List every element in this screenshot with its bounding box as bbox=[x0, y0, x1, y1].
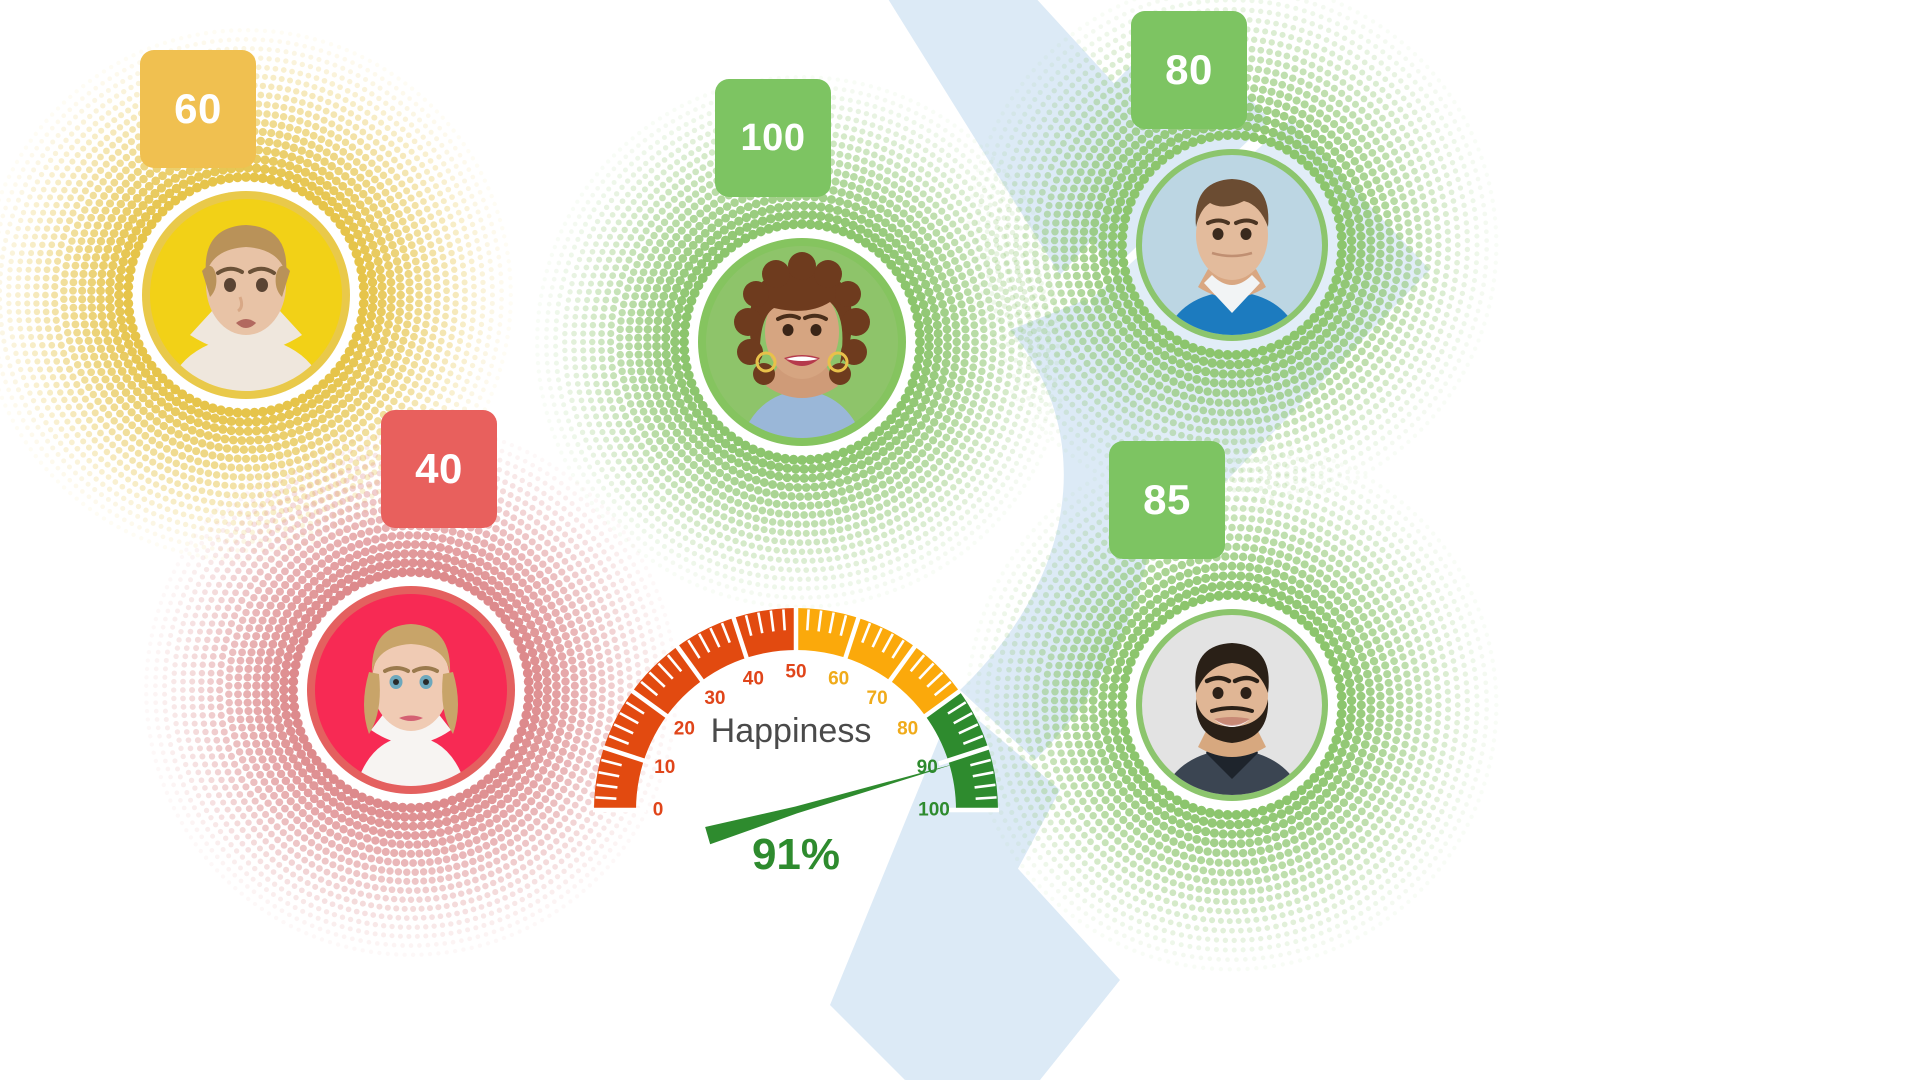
canvas: 60 bbox=[0, 0, 1920, 1080]
avatar-image-man-blue-shirt bbox=[1142, 155, 1322, 335]
gauge-tick-label: 10 bbox=[654, 757, 675, 778]
gauge-tick-label: 0 bbox=[653, 800, 664, 821]
background-watermark bbox=[0, 0, 1920, 1080]
score-value: 85 bbox=[1143, 476, 1191, 524]
score-value: 40 bbox=[415, 445, 463, 493]
avatar[interactable] bbox=[1142, 155, 1322, 335]
gauge-tick-label: 60 bbox=[828, 668, 849, 689]
score-badge[interactable]: 60 bbox=[140, 50, 256, 168]
score-badge[interactable]: 100 bbox=[715, 79, 831, 197]
score-value: 100 bbox=[741, 117, 806, 160]
avatar[interactable] bbox=[315, 594, 507, 786]
gauge-tick-label: 70 bbox=[867, 688, 888, 709]
avatar-image-smiling-woman bbox=[706, 246, 898, 438]
score-badge[interactable]: 80 bbox=[1131, 11, 1247, 129]
avatar[interactable] bbox=[1142, 615, 1322, 795]
happiness-gauge[interactable]: 0102030405060708090100 Happiness 91% bbox=[586, 580, 1006, 900]
gauge-tick-label: 100 bbox=[918, 800, 950, 821]
avatar[interactable] bbox=[706, 246, 898, 438]
avatar-image-angry-woman bbox=[315, 594, 507, 786]
score-badge[interactable]: 85 bbox=[1109, 441, 1225, 559]
gauge-tick-label: 40 bbox=[743, 668, 764, 689]
gauge-value: 91% bbox=[586, 830, 1006, 880]
score-value: 60 bbox=[174, 85, 222, 133]
score-badge[interactable]: 40 bbox=[381, 410, 497, 528]
avatar[interactable] bbox=[150, 199, 342, 391]
gauge-tick-label: 30 bbox=[704, 688, 725, 709]
gauge-title: Happiness bbox=[581, 712, 1001, 751]
gauge-tick-label: 50 bbox=[785, 662, 806, 683]
avatar-image-man-with-beard bbox=[1142, 615, 1322, 795]
score-value: 80 bbox=[1165, 46, 1213, 94]
avatar-image-confused-woman bbox=[150, 199, 342, 391]
